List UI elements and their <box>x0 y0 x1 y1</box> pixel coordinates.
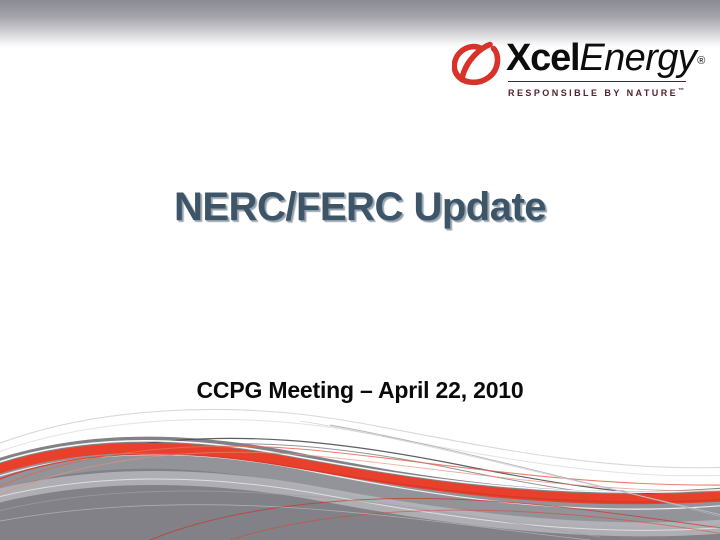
brand-name-xcel: Xcel <box>506 37 579 79</box>
slide-canvas: XcelEnergy® RESPONSIBLE BY NATURE™ NERC/… <box>0 0 720 540</box>
logo-tagline-text: RESPONSIBLE BY NATURE <box>508 88 678 98</box>
brand-name-energy: Energy <box>579 37 696 79</box>
registered-trademark-icon: ® <box>697 55 705 67</box>
logo-divider-rule <box>508 81 686 82</box>
logo-tagline: RESPONSIBLE BY NATURE™ <box>508 84 688 98</box>
xcel-energy-logo: XcelEnergy® RESPONSIBLE BY NATURE™ <box>452 36 686 102</box>
xcel-swoosh-icon <box>452 38 506 86</box>
bottom-wave-graphic <box>0 395 720 540</box>
xcel-energy-wordmark: XcelEnergy® <box>506 36 686 80</box>
trademark-icon: ™ <box>678 88 684 94</box>
slide-title: NERC/FERC Update <box>0 185 720 230</box>
